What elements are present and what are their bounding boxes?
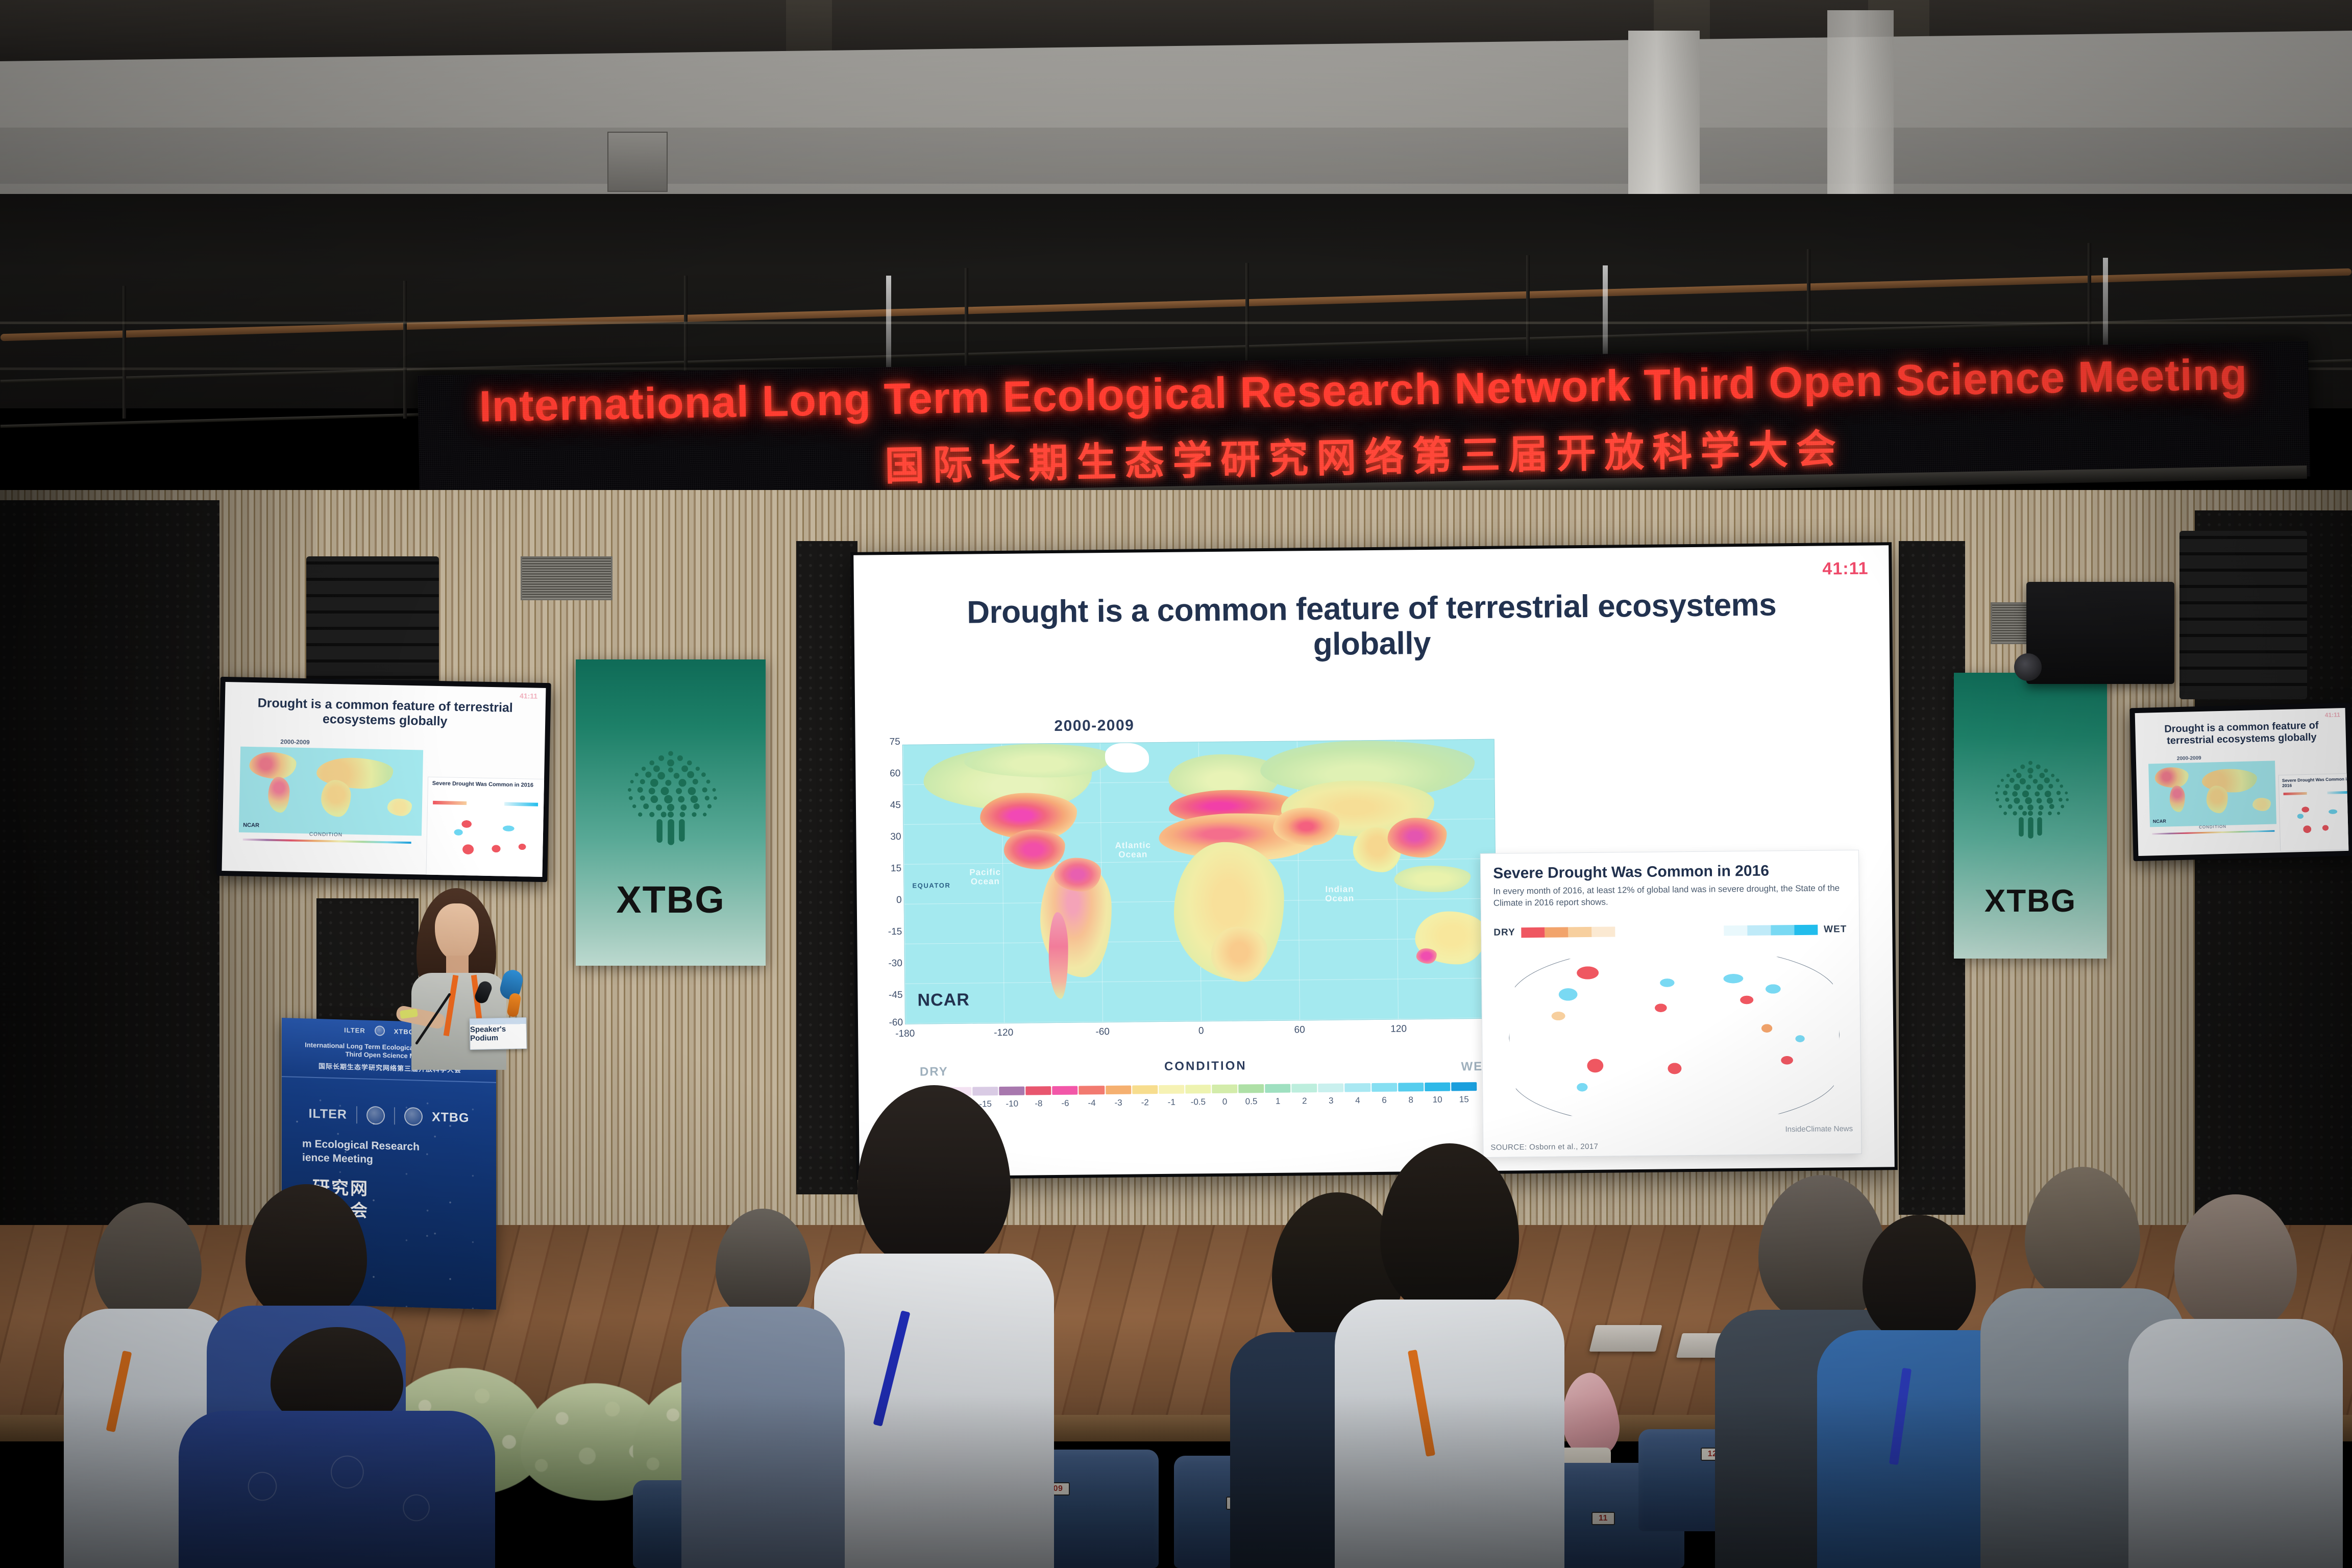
audience-member bbox=[827, 1085, 1041, 1568]
greenland-nodata bbox=[1105, 743, 1149, 773]
audience-member bbox=[1347, 1143, 1552, 1568]
colorbar-swatch bbox=[1185, 1085, 1211, 1093]
colorbar-swatch bbox=[1398, 1083, 1424, 1091]
podium-logo-ilter: ILTER bbox=[309, 1106, 347, 1122]
wall-band bbox=[0, 128, 2352, 184]
colorbar-tick: 0.5 bbox=[1238, 1096, 1264, 1110]
monitor-left-colorbar-title: CONDITION bbox=[309, 831, 342, 838]
colorbar-swatch bbox=[1159, 1085, 1184, 1094]
audience-head bbox=[1380, 1143, 1519, 1315]
inset-title: Severe Drought Was Common in 2016 bbox=[1493, 863, 1769, 883]
audience-member bbox=[194, 1327, 480, 1568]
audience-shoulders bbox=[814, 1254, 1054, 1568]
global-drought-map: PacificOcean AtlanticOcean IndianOcean E… bbox=[902, 739, 1497, 1024]
monitor-right-ncar: NCAR bbox=[2153, 819, 2166, 824]
audience-head bbox=[857, 1085, 1011, 1270]
colorbar-tick: 4 bbox=[1344, 1095, 1371, 1109]
monitor-right-colorbar bbox=[2152, 830, 2274, 835]
balcony-louver bbox=[0, 322, 2352, 324]
podium-header-logo-ilter: ILTER bbox=[344, 1026, 365, 1034]
inset-card-severe-drought-2016: Severe Drought Was Common in 2016 In eve… bbox=[1480, 850, 1862, 1158]
podium-logo-xtbg: XTBG bbox=[432, 1110, 469, 1125]
monitor-left-colorbar bbox=[243, 839, 411, 844]
colorbar-swatch bbox=[1345, 1083, 1370, 1092]
monitor-left-map: NCAR bbox=[239, 747, 423, 836]
xtbg-tree-logo-icon bbox=[1982, 749, 2079, 846]
colorbar-tick: 8 bbox=[1398, 1095, 1424, 1108]
colorbar-tick: 3 bbox=[1318, 1096, 1344, 1109]
audience-shoulders bbox=[2128, 1319, 2343, 1568]
monitor-left-inset-wet-ramp bbox=[504, 802, 538, 806]
colorbar-tick: 2 bbox=[1291, 1096, 1318, 1109]
balcony-post bbox=[122, 286, 126, 419]
audience-head bbox=[2025, 1167, 2140, 1301]
audience-head bbox=[716, 1209, 811, 1319]
colorbar-tick: -2 bbox=[1132, 1097, 1158, 1111]
colorbar-swatch bbox=[1318, 1084, 1343, 1092]
colorbar-tick: 15 bbox=[1451, 1094, 1477, 1108]
speakers-podium-sign-label: Speaker's Podium bbox=[470, 1024, 527, 1043]
inset-legend: DRY WET bbox=[1493, 923, 1847, 940]
colorbar-tick: -4 bbox=[1079, 1098, 1105, 1111]
colorbar-tick: -0.5 bbox=[1185, 1097, 1211, 1110]
audience-member bbox=[689, 1209, 837, 1568]
colorbar-title: CONDITION bbox=[920, 1057, 1491, 1076]
colorbar-tick: 1 bbox=[1265, 1096, 1291, 1110]
slide-title: Drought is a common feature of terrestri… bbox=[910, 586, 1833, 666]
monitor-right-inset-map bbox=[2286, 797, 2349, 846]
presentation-slide: 41:11 Drought is a common feature of ter… bbox=[853, 545, 1895, 1177]
monitor-right-inset: Severe Drought Was Common in 2016 bbox=[2278, 773, 2349, 852]
podium-logo-divider bbox=[356, 1106, 357, 1123]
seat-number-plate: 11 bbox=[1591, 1512, 1615, 1525]
wall-monitor-left-screen: 41:11 Drought is a common feature of ter… bbox=[222, 682, 546, 877]
colorbar-swatch bbox=[1265, 1084, 1290, 1093]
monitor-left-inset-map bbox=[436, 809, 537, 871]
inset-legend-dry-ramp bbox=[1522, 926, 1615, 938]
audience-head bbox=[246, 1184, 367, 1321]
colorbar-dry-label: DRY bbox=[920, 1065, 948, 1080]
ocean-label-atlantic: AtlanticOcean bbox=[1109, 841, 1157, 860]
podium-logo-tree-icon bbox=[404, 1107, 423, 1126]
podium-body-text-en: m Ecological Research ience Meeting bbox=[302, 1137, 491, 1170]
ocean-label-indian: IndianOcean bbox=[1315, 885, 1363, 903]
monitor-right-inset-wet-ramp bbox=[2327, 791, 2349, 794]
inset-legend-dry-label: DRY bbox=[1493, 927, 1515, 938]
colorbar-swatch bbox=[1106, 1086, 1131, 1094]
audience-shoulders bbox=[681, 1307, 845, 1568]
colorbar-swatch bbox=[1425, 1083, 1450, 1091]
xtbg-tree-logo-icon bbox=[612, 737, 729, 854]
map-y-axis: 75 60 45 30 15 0 -15 -30 -45 -60 bbox=[873, 742, 903, 1027]
wall-monitor-right: 41:11 Drought is a common feature of ter… bbox=[2129, 703, 2352, 861]
xtbg-banner-right-label: XTBG bbox=[1954, 883, 2107, 919]
colorbar-swatch bbox=[1079, 1086, 1105, 1094]
ceiling-vent-icon bbox=[607, 132, 668, 192]
monitor-right-timer: 41:11 bbox=[2325, 711, 2340, 719]
colorbar-tick: 0 bbox=[1211, 1097, 1238, 1110]
inset-legend-wet-ramp bbox=[1724, 925, 1818, 936]
xtbg-banner-left-label: XTBG bbox=[576, 878, 766, 921]
inset-robinson-map bbox=[1508, 945, 1841, 1127]
colorbar-tick: 10 bbox=[1424, 1095, 1451, 1108]
slide-timer: 41:11 bbox=[1822, 559, 1868, 579]
inset-legend-wet-label: WET bbox=[1824, 924, 1847, 935]
colorbar-swatch bbox=[1238, 1084, 1264, 1093]
drought-zone-southwest-australia bbox=[1416, 948, 1437, 964]
conference-hall-scene: International Long Term Ecological Resea… bbox=[0, 0, 2352, 1568]
monitor-left-ncar: NCAR bbox=[243, 822, 259, 829]
monitor-right-caption: 2000-2009 bbox=[2177, 755, 2201, 762]
monitor-right-map: NCAR bbox=[2148, 761, 2276, 827]
audience-member bbox=[2139, 1194, 2333, 1568]
map-x-axis: -180 -120 -60 0 60 120 bbox=[905, 1023, 1497, 1044]
floor-monitor-speaker bbox=[1589, 1325, 1662, 1352]
map-caption: 2000-2009 bbox=[1054, 717, 1134, 735]
projection-screen: 41:11 Drought is a common feature of ter… bbox=[850, 542, 1898, 1180]
balcony-post bbox=[403, 281, 407, 419]
colorbar-swatch bbox=[1451, 1082, 1477, 1091]
colorbar-swatch bbox=[1291, 1084, 1317, 1092]
colorbar-swatch bbox=[1212, 1085, 1237, 1093]
colorbar-tick: -3 bbox=[1105, 1098, 1132, 1111]
colorbar-swatch bbox=[1371, 1083, 1397, 1092]
inset-subtitle: In every month of 2016, at least 12% of … bbox=[1493, 882, 1846, 910]
monitor-left-inset: Severe Drought Was Common in 2016 bbox=[426, 777, 545, 877]
map-colorbar: CONDITION DRY WET -20-15-10-8-6-4-3-2-1-… bbox=[920, 1060, 1491, 1065]
ncar-watermark: NCAR bbox=[917, 990, 970, 1011]
projector-lens-icon bbox=[2014, 653, 2042, 681]
xtbg-banner-left: XTBG bbox=[576, 659, 766, 966]
monitor-right-inset-title: Severe Drought Was Common in 2016 bbox=[2282, 776, 2349, 788]
xtbg-banner-right: XTBG bbox=[1954, 673, 2107, 959]
colorbar-tick: -1 bbox=[1158, 1097, 1185, 1111]
monitor-left-inset-dry-ramp bbox=[433, 801, 467, 805]
audience-shoulders bbox=[1335, 1300, 1564, 1568]
monitor-left-caption: 2000-2009 bbox=[280, 738, 310, 746]
audience-head bbox=[2174, 1194, 2297, 1332]
monitor-right-inset-dry-ramp bbox=[2284, 792, 2307, 795]
monitor-right-colorbar-title: CONDITION bbox=[2199, 824, 2226, 829]
speakers-podium-sign: Speaker's Podium bbox=[469, 1017, 527, 1050]
wall-monitor-right-screen: 41:11 Drought is a common feature of ter… bbox=[2135, 708, 2349, 856]
wall-vent-icon bbox=[521, 556, 612, 600]
ocean-label-pacific: PacificOcean bbox=[961, 868, 1009, 887]
audience-head bbox=[1863, 1215, 1976, 1342]
colorbar-tick: -6 bbox=[1052, 1098, 1079, 1112]
line-array-speaker bbox=[2179, 531, 2307, 699]
monitor-right-title: Drought is a common feature of terrestri… bbox=[2146, 719, 2337, 747]
colorbar-swatch bbox=[1132, 1085, 1158, 1094]
podium-logo-institute-icon bbox=[366, 1106, 385, 1125]
monitor-left-title: Drought is a common feature of terrestri… bbox=[240, 696, 530, 730]
colorbar-swatch bbox=[1052, 1086, 1078, 1095]
podium-header-logo-circle-icon bbox=[375, 1025, 385, 1036]
monitor-left-inset-title: Severe Drought Was Common in 2016 bbox=[432, 780, 533, 789]
inset-map-anomalies bbox=[1508, 945, 1841, 1127]
audience-shirt-pattern bbox=[209, 1429, 475, 1568]
monitor-left-timer: 41:11 bbox=[520, 692, 537, 700]
equator-label: EQUATOR bbox=[912, 881, 950, 890]
wall-monitor-left: 41:11 Drought is a common feature of ter… bbox=[216, 677, 551, 882]
inset-credit: InsideClimate News bbox=[1785, 1124, 1853, 1134]
colorbar-tick: 6 bbox=[1371, 1095, 1398, 1109]
audience-head bbox=[94, 1203, 202, 1324]
podium-logo-divider bbox=[394, 1107, 395, 1124]
ceiling-projector bbox=[2026, 582, 2174, 684]
